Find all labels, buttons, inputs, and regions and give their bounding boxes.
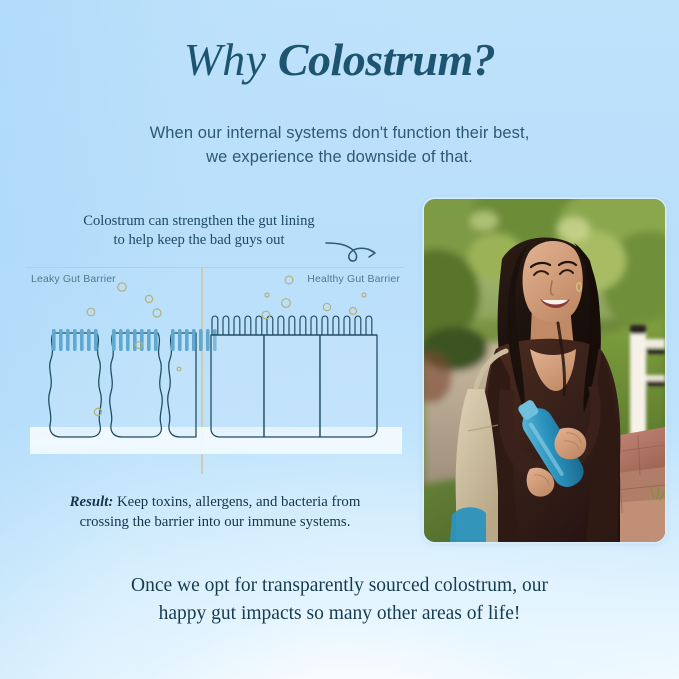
leaky-cell-3 [168, 329, 217, 437]
result-line-2: crossing the barrier into our immune sys… [24, 512, 406, 532]
gut-barrier-diagram: Colostrum can strengthen the gut lining … [24, 205, 406, 540]
healthy-particles [262, 276, 366, 319]
infographic-page: Why Colostrum? When our internal systems… [0, 0, 679, 679]
title-colostrum: Colostrum? [278, 34, 495, 85]
footer-line-2: happy gut impacts so many other areas of… [60, 600, 619, 628]
leaky-cell-1 [49, 329, 102, 437]
healthy-villi [211, 316, 377, 335]
diagram-caption: Colostrum can strengthen the gut lining … [24, 212, 374, 251]
footer-statement: Once we opt for transparently sourced co… [60, 572, 619, 627]
title-why: Why [184, 34, 278, 85]
result-statement: Result: Keep toxins, allergens, and bact… [24, 492, 406, 533]
healthy-cell-1 [211, 335, 264, 437]
result-line-1: Result: Keep toxins, allergens, and bact… [24, 492, 406, 512]
healthy-cell-2 [264, 335, 320, 437]
curly-arrow-icon [324, 227, 394, 271]
diagram-panel: Leaky Gut Barrier Healthy Gut Barrier [24, 267, 406, 477]
diagram-caption-line-1: Colostrum can strengthen the gut lining [24, 212, 374, 231]
subtitle: When our internal systems don't function… [80, 122, 599, 170]
subtitle-line-1: When our internal systems don't function… [80, 122, 599, 146]
page-title: Why Colostrum? [0, 36, 679, 84]
gut-cells-illustration [24, 267, 406, 477]
healthy-cell-3 [320, 335, 377, 437]
subtitle-line-2: we experience the downside of that. [80, 146, 599, 170]
result-lead: Result: [70, 494, 114, 510]
footer-line-1: Once we opt for transparently sourced co… [60, 572, 619, 600]
photo-illustration [424, 199, 665, 542]
diagram-caption-line-2: to help keep the bad guys out [24, 231, 374, 250]
result-body-1: Keep toxins, allergens, and bacteria fro… [113, 494, 360, 510]
lifestyle-photo [424, 199, 665, 542]
